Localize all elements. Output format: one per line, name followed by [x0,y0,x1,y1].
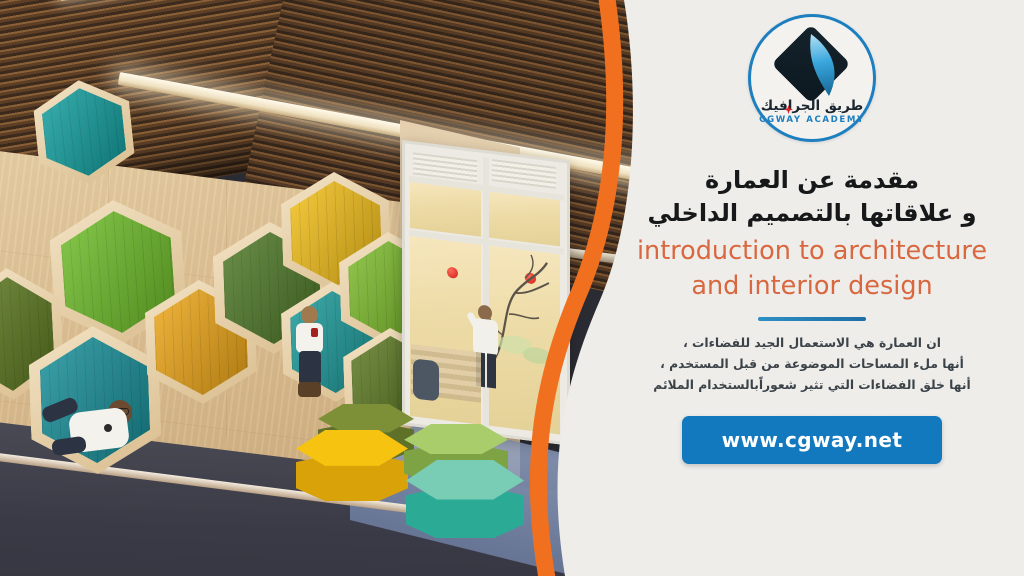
page-title-english: introduction to architecture and interio… [612,234,1012,303]
logo-arabic-name: طريق الجرافيك [761,100,863,114]
logo-english-name: CGWAY ACADEMY [759,116,865,125]
title-english-line-2: and interior design [612,269,1012,304]
title-arabic-line-1: مقدمة عن العمارة [616,164,1008,197]
page-title-arabic: مقدمة عن العمارة و علاقاتها بالتصميم الد… [616,164,1008,230]
website-url-button[interactable]: www.cgway.net [682,416,943,464]
description-line-1: ان العمارة هي الاستعمال الجيد للفضاءات ، [632,333,992,354]
description-line-2: أنها ملء المساحات الموضوعة من قبل المستخ… [632,354,992,375]
title-english-line-1: introduction to architecture [612,234,1012,269]
cgway-academy-logo[interactable]: طريق الجرافيك CGWAY ACADEMY [748,14,876,142]
section-divider [758,317,866,321]
promo-card: طريق الجرافيك CGWAY ACADEMY مقدمة عن الع… [0,0,1024,576]
info-panel: طريق الجرافيك CGWAY ACADEMY مقدمة عن الع… [600,0,1024,576]
logo-diamond-mark [775,28,849,102]
description-line-3: أنها خلق الفضاءات التي تثير شعوراًبالستخ… [632,375,992,396]
description-text: ان العمارة هي الاستعمال الجيد للفضاءات ،… [632,333,992,396]
title-arabic-line-2: و علاقاتها بالتصميم الداخلي [616,197,1008,230]
